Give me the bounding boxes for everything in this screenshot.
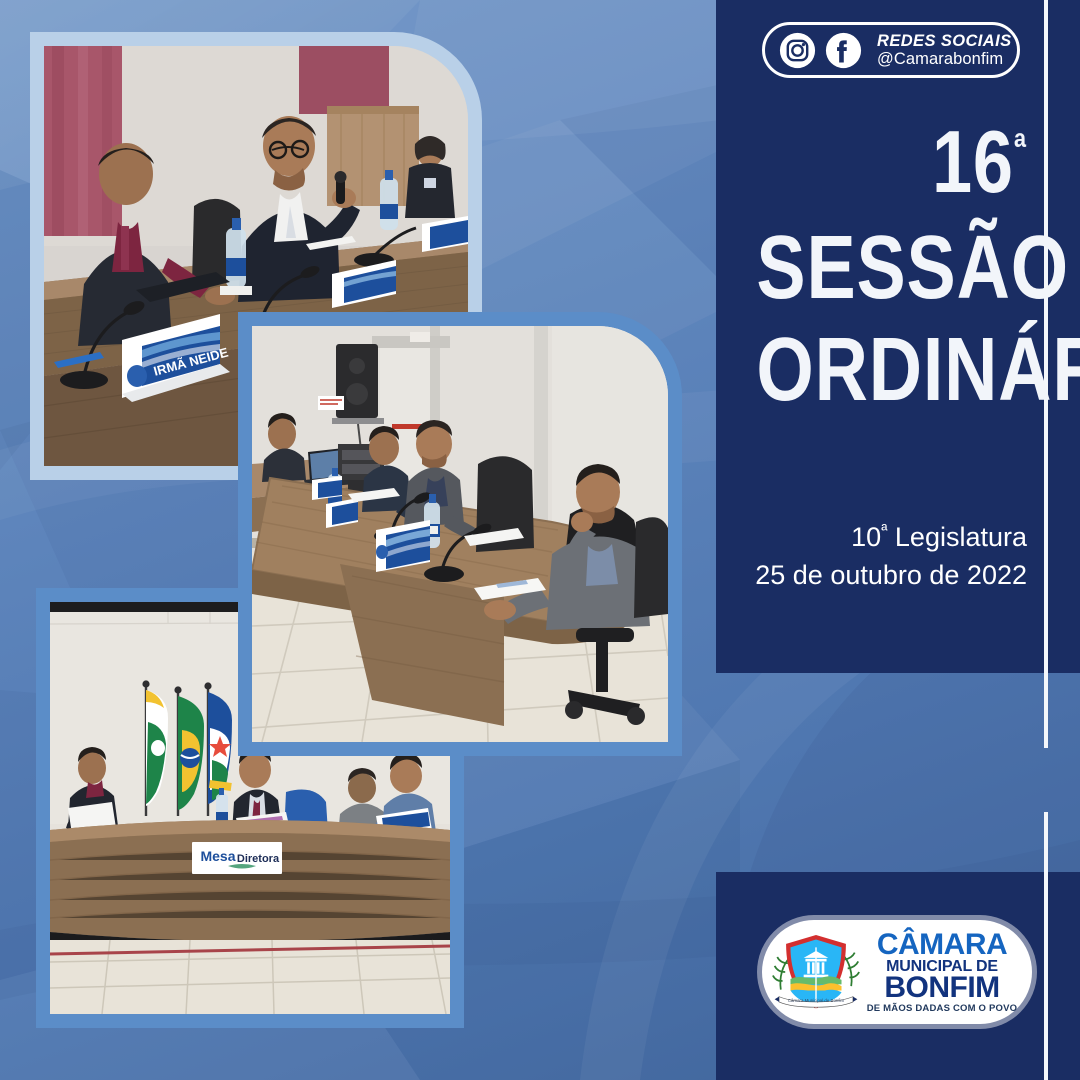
facebook-icon[interactable] xyxy=(825,32,862,69)
legislature-number: 10 xyxy=(851,522,881,552)
social-handle-text: REDES SOCIAIS @Camarabonfim xyxy=(877,32,1011,69)
svg-text:Mesa: Mesa xyxy=(200,848,235,864)
legislature-word: Legislatura xyxy=(887,522,1027,552)
social-handle: @Camarabonfim xyxy=(877,50,1011,68)
legislature-line: 10ª Legislatura xyxy=(687,518,1027,556)
title-word-sessao: SESSÃO xyxy=(756,222,1027,316)
page-title: 16ª SESSÃO ORDINÁRIA xyxy=(697,118,1027,417)
session-number-value: 16 xyxy=(932,112,1014,211)
coat-of-arms-shield-icon: Câmara Municipal de Bonfim xyxy=(772,928,860,1016)
session-date: 25 de outubro de 2022 xyxy=(687,556,1027,594)
social-label: REDES SOCIAIS xyxy=(877,32,1011,50)
logo-wordmark: CÂMARA MUNICIPAL DE BONFIM DE MÃOS DADAS… xyxy=(864,930,1020,1014)
vertical-rule-lower xyxy=(1044,812,1048,1080)
session-number: 16ª xyxy=(756,118,1027,206)
svg-text:Diretora: Diretora xyxy=(237,853,280,865)
session-number-ordinal: ª xyxy=(1014,125,1027,171)
logo-bonfim-text: BONFIM xyxy=(864,973,1020,1003)
social-media-badge[interactable]: REDES SOCIAIS @Camarabonfim xyxy=(762,22,1020,78)
logo-slogan-text: DE MÃOS DADAS COM O POVO xyxy=(864,1004,1020,1014)
camara-municipal-logo[interactable]: Câmara Municipal de Bonfim CÂMARA MUNICI… xyxy=(762,920,1032,1024)
page-subtitle: 10ª Legislatura 25 de outubro de 2022 xyxy=(687,518,1027,595)
photo-mid-image xyxy=(252,326,668,742)
title-word-ordinaria: ORDINÁRIA xyxy=(756,324,1027,418)
instagram-icon[interactable] xyxy=(779,32,816,69)
svg-text:Câmara Municipal de Bonfim: Câmara Municipal de Bonfim xyxy=(788,998,845,1003)
photo-long-table-council-members[interactable] xyxy=(238,312,682,756)
logo-camara-text: CÂMARA xyxy=(864,930,1020,960)
